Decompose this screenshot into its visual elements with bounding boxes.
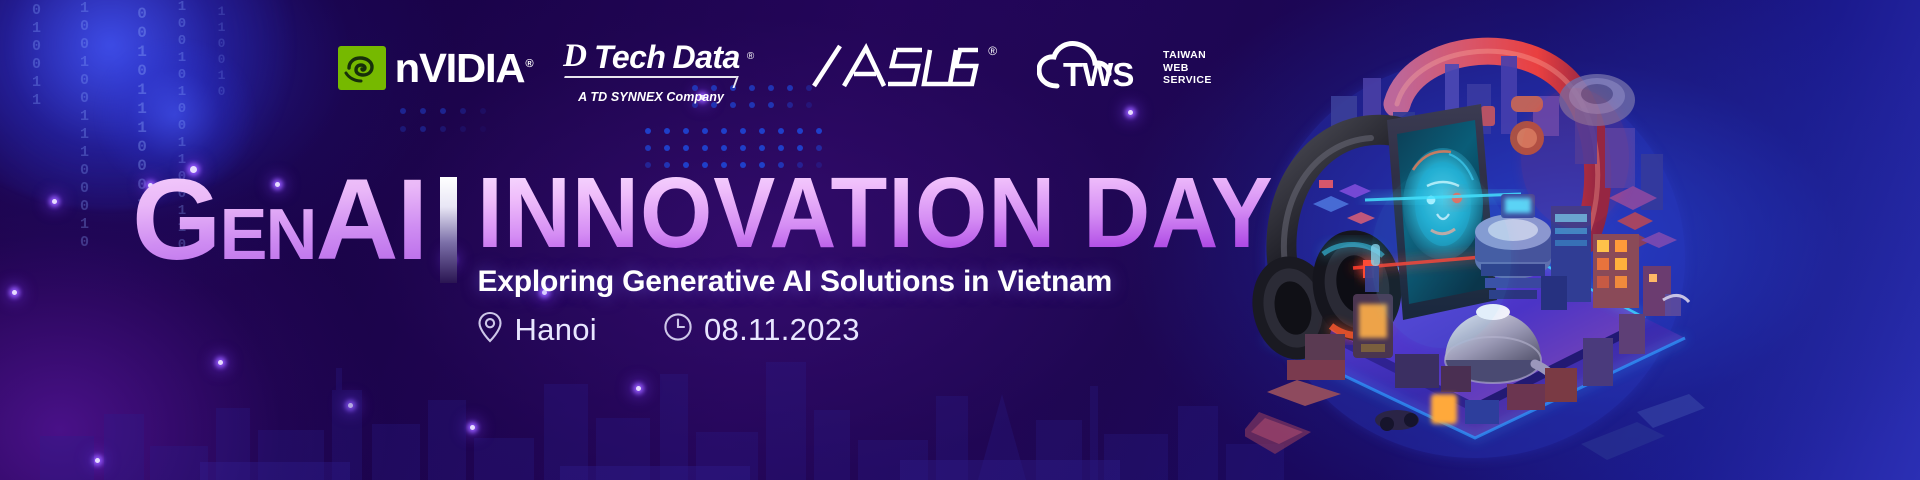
clock-icon: [663, 312, 693, 347]
genai-wordmark: GENAI: [132, 168, 426, 274]
event-meta-row: Hanoi 08.11.2023: [477, 311, 1334, 348]
headline-right-column: INNOVATION DAY Exploring Generative AI S…: [477, 170, 1334, 348]
logo-techdata: D Tech Data ® A TD SYNNEX Company: [563, 40, 754, 106]
page-title: INNOVATION DAY: [477, 170, 1274, 256]
tws-tagline: TAIWAN WEB SERVICE: [1163, 49, 1212, 86]
headline-divider: [440, 177, 457, 283]
logo-asus: ®: [810, 40, 997, 90]
event-date-label: 08.11.2023: [704, 312, 860, 348]
binary-stream: 0110010: [214, 0, 229, 100]
genai-ai: AI: [315, 156, 426, 284]
partner-logo-bar: nVIDIA® D Tech Data ® A TD SYNNEX Compan…: [338, 40, 1212, 112]
tws-tagline-line2: WEB: [1163, 62, 1212, 74]
techdata-word-data: Data: [672, 41, 739, 73]
nvidia-wordmark: nVIDIA®: [395, 48, 533, 89]
nvidia-wordmark-n: n: [395, 45, 419, 91]
tws-tagline-line3: SERVICE: [1163, 74, 1212, 86]
tws-tagline-line1: TAIWAN: [1163, 49, 1212, 61]
city-skyline-silhouette: [0, 350, 1300, 480]
genai-en: EN: [219, 195, 315, 275]
registered-mark: ®: [525, 58, 532, 70]
headline-block: GENAI INNOVATION DAY Exploring Generativ…: [132, 168, 1334, 348]
tws-wordmark: TWS: [1063, 58, 1133, 97]
logo-nvidia: nVIDIA®: [338, 40, 531, 96]
sparkle: [52, 199, 57, 204]
binary-stream: 010010011100010: [76, 0, 93, 252]
techdata-wordmark: D Tech Data ®: [563, 40, 754, 73]
binary-stream: 0010011: [28, 0, 45, 110]
registered-mark: ®: [988, 44, 997, 58]
genai-g: G: [132, 156, 219, 284]
techdata-monogram: D: [563, 40, 587, 73]
techdata-tagline: A TD SYNNEX Company: [563, 90, 739, 104]
nvidia-wordmark-rest: VIDIA: [419, 45, 524, 91]
registered-mark: ®: [747, 51, 754, 62]
logo-tws: TWS TAIWAN WEB SERVICE: [1037, 40, 1212, 96]
genai-innovation-day-banner: 0010011 010010011100010 1001011100010 11…: [0, 0, 1920, 480]
event-location: Hanoi: [477, 311, 597, 348]
ai-city-illustration: [1245, 8, 1705, 474]
event-location-label: Hanoi: [514, 312, 597, 348]
asus-wordmark: [810, 40, 986, 90]
techdata-underline: [561, 76, 737, 86]
sparkle: [12, 290, 17, 295]
subtitle: Exploring Generative AI Solutions in Vie…: [477, 265, 1334, 299]
event-date: 08.11.2023: [663, 312, 860, 348]
techdata-word-tech: Tech: [594, 41, 666, 73]
location-pin-icon: [477, 311, 503, 348]
nvidia-eye-icon: [338, 46, 386, 90]
